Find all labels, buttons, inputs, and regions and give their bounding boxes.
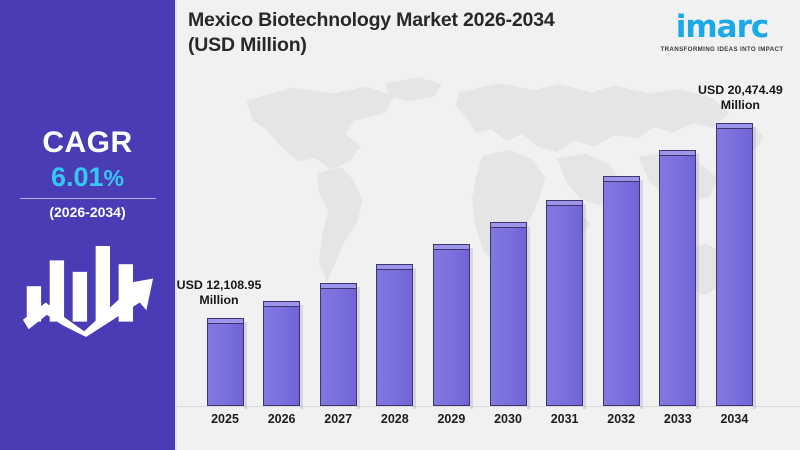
bar-2034 — [716, 123, 753, 406]
cagr-sidebar: CAGR 6.01% (2026-2034) — [0, 0, 175, 450]
bar-2027 — [320, 283, 357, 406]
x-axis-label-2031: 2031 — [535, 412, 595, 426]
x-axis-label-2026: 2026 — [252, 412, 312, 426]
cagr-percent-symbol: % — [104, 165, 124, 191]
divider — [20, 198, 156, 199]
bar-body — [490, 222, 527, 406]
bar-top-cap — [546, 200, 583, 206]
bar-shadow — [753, 127, 756, 409]
bar-body — [320, 283, 357, 406]
cagr-value: 6.01% — [51, 164, 124, 191]
bar-chart-plot: 2025202620272028202920302031203220332034… — [177, 0, 800, 450]
bar-body — [716, 123, 753, 406]
bar-top-cap — [433, 244, 470, 250]
value-label-2025: USD 12,108.95 Million — [175, 278, 279, 308]
bar-shadow — [470, 248, 473, 409]
x-axis-label-2034: 2034 — [704, 412, 764, 426]
bar-shadow — [583, 204, 586, 409]
bar-body — [263, 301, 300, 406]
cagr-label: CAGR — [42, 128, 132, 158]
infographic-root: CAGR 6.01% (2026-2034) — [0, 0, 800, 450]
bar-shadow — [300, 305, 303, 409]
bar-shadow — [357, 287, 360, 409]
bar-top-cap — [320, 283, 357, 289]
bar-2031 — [546, 200, 583, 406]
cagr-number: 6.01 — [51, 162, 104, 192]
bar-2030 — [490, 222, 527, 406]
bar-body — [376, 264, 413, 406]
bar-top-cap — [603, 176, 640, 182]
bar-2033 — [659, 150, 696, 406]
bar-2028 — [376, 264, 413, 406]
cagr-period: (2026-2034) — [49, 205, 125, 219]
bar-shadow — [640, 180, 643, 409]
chart-panel: Mexico Biotechnology Market 2026-2034 (U… — [175, 0, 800, 450]
growth-bar-chart-arrow-icon — [21, 245, 155, 337]
bar-body — [546, 200, 583, 406]
bar-2029 — [433, 244, 470, 406]
bar-body — [207, 318, 244, 406]
bar-top-cap — [659, 150, 696, 156]
x-axis-line — [177, 406, 800, 407]
x-axis-label-2032: 2032 — [591, 412, 651, 426]
bar-top-cap — [716, 123, 753, 129]
bar-2025 — [207, 318, 244, 406]
bar-top-cap — [376, 264, 413, 270]
bar-shadow — [696, 154, 699, 409]
bar-body — [433, 244, 470, 406]
bar-top-cap — [490, 222, 527, 228]
bar-top-cap — [207, 318, 244, 324]
bar-body — [659, 150, 696, 406]
bar-2032 — [603, 176, 640, 406]
x-axis-label-2033: 2033 — [648, 412, 708, 426]
value-label-2034: USD 20,474.49 Million — [680, 83, 800, 113]
x-axis-label-2028: 2028 — [365, 412, 425, 426]
bar-shadow — [413, 268, 416, 409]
x-axis-label-2029: 2029 — [421, 412, 481, 426]
bar-body — [603, 176, 640, 406]
x-axis-label-2030: 2030 — [478, 412, 538, 426]
x-axis-label-2025: 2025 — [195, 412, 255, 426]
bar-shadow — [527, 226, 530, 409]
bar-2026 — [263, 301, 300, 406]
x-axis-label-2027: 2027 — [308, 412, 368, 426]
bar-shadow — [244, 322, 247, 409]
